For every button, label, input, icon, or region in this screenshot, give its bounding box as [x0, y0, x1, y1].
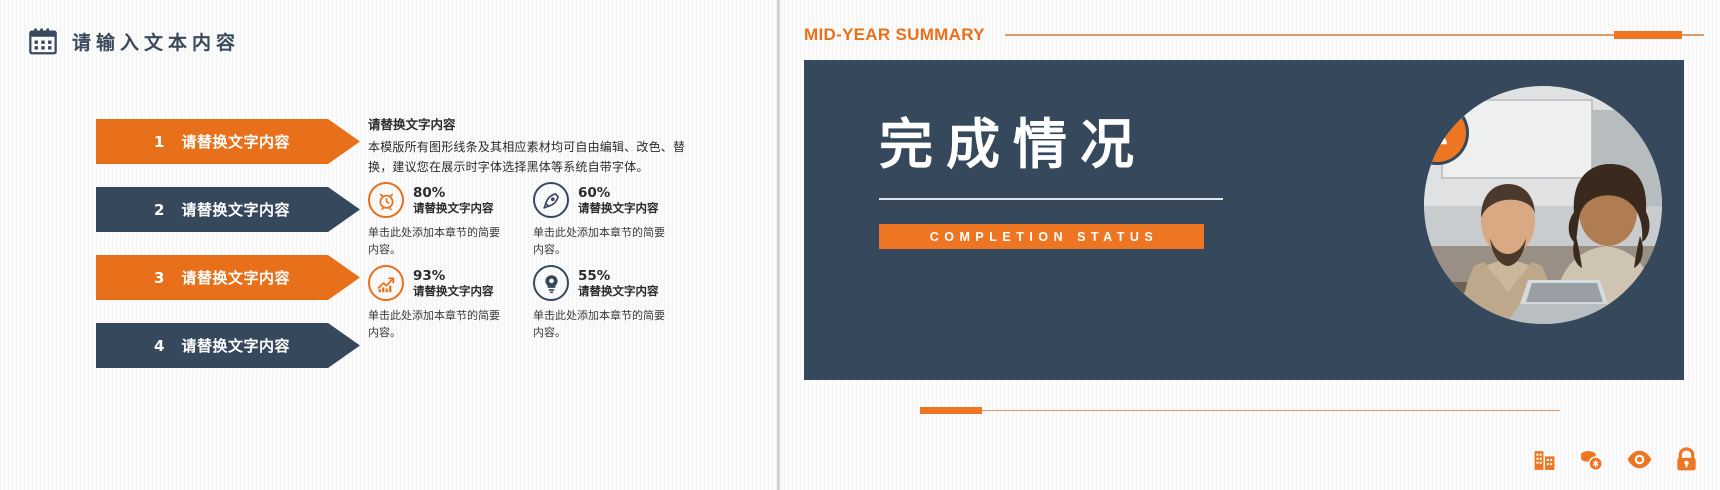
left-panel: 请输入文本内容 1 请替换文字内容 2 请替换文字内容 3 请替换文字内容 — [0, 0, 777, 490]
arrow-banner-4[interactable]: 4 请替换文字内容 — [96, 323, 360, 368]
arrow-banner-2[interactable]: 2 请替换文字内容 — [96, 187, 360, 232]
stat-description: 单击此处添加本章节的简要内容。 — [368, 308, 508, 341]
arrow-shape: 1 请替换文字内容 — [96, 119, 360, 164]
hero-subtitle-badge: COMPLETION STATUS — [879, 224, 1204, 249]
page-title: 请输入文本内容 — [72, 28, 240, 55]
stat-percent: 60% — [578, 185, 659, 201]
header-rule-left — [1005, 34, 1614, 36]
arrow-label: 请替换文字内容 — [181, 267, 290, 288]
lightbulb-icon — [541, 273, 562, 294]
intro-title: 请替换文字内容 — [368, 114, 688, 133]
eye-icon[interactable] — [1626, 447, 1653, 472]
arrow-banner-1[interactable]: 1 请替换文字内容 — [96, 119, 360, 164]
right-panel: MID-YEAR SUMMARY 完成情况 COMPLETION STATUS — [780, 0, 1720, 490]
header-accent-bar — [1614, 31, 1682, 39]
arrow-label: 请替换文字内容 — [181, 131, 290, 152]
stat-percent: 80% — [413, 185, 494, 201]
stat-label: 请替换文字内容 — [413, 201, 494, 215]
arrow-shape: 2 请替换文字内容 — [96, 187, 360, 232]
stat-label: 请替换文字内容 — [413, 284, 494, 298]
arrow-banner-3[interactable]: 3 请替换文字内容 — [96, 255, 360, 300]
stat-head: 60% 请替换文字内容 — [533, 182, 693, 218]
hero-card: 完成情况 COMPLETION STATUS — [804, 60, 1684, 380]
hero-divider — [879, 198, 1223, 200]
stat-percent: 93% — [413, 268, 494, 284]
stat-texts: 55% 请替换文字内容 — [578, 268, 659, 298]
stat-item-3[interactable]: 93% 请替换文字内容 单击此处添加本章节的简要内容。 — [368, 265, 528, 341]
stat-icon-ring — [533, 182, 569, 218]
left-panel-header: 请输入文本内容 — [28, 26, 240, 56]
stat-item-2[interactable]: 60% 请替换文字内容 单击此处添加本章节的简要内容。 — [533, 182, 693, 258]
arrow-shape: 4 请替换文字内容 — [96, 323, 360, 368]
stat-head: 55% 请替换文字内容 — [533, 265, 693, 301]
arrow-number: 3 — [154, 269, 164, 287]
stat-texts: 80% 请替换文字内容 — [413, 185, 494, 215]
hero-title-block: 完成情况 COMPLETION STATUS — [879, 118, 1224, 249]
arrow-label: 请替换文字内容 — [181, 199, 290, 220]
stat-item-1[interactable]: 80% 请替换文字内容 单击此处添加本章节的简要内容。 — [368, 182, 528, 258]
footer-rule — [920, 407, 1560, 414]
stat-icon-ring — [533, 265, 569, 301]
hero-subtitle: COMPLETION STATUS — [925, 230, 1158, 244]
header-rule-right — [1682, 34, 1704, 36]
section-title: MID-YEAR SUMMARY — [804, 25, 985, 45]
stat-head: 93% 请替换文字内容 — [368, 265, 528, 301]
growth-chart-icon — [376, 273, 397, 294]
stat-description: 单击此处添加本章节的简要内容。 — [533, 308, 673, 341]
office-building-icon[interactable] — [1532, 447, 1557, 472]
rocket-pen-icon — [541, 190, 562, 211]
right-panel-header: MID-YEAR SUMMARY — [804, 25, 1704, 45]
stat-icon-ring — [368, 182, 404, 218]
slide-canvas: 请输入文本内容 1 请替换文字内容 2 请替换文字内容 3 请替换文字内容 — [0, 0, 1720, 490]
hero-title: 完成情况 — [879, 118, 1224, 172]
coins-stack-icon[interactable] — [1579, 447, 1604, 472]
stat-icon-ring — [368, 265, 404, 301]
stat-texts: 60% 请替换文字内容 — [578, 185, 659, 215]
stat-description: 单击此处添加本章节的简要内容。 — [533, 225, 673, 258]
arrow-banner-list: 1 请替换文字内容 2 请替换文字内容 3 请替换文字内容 4 — [96, 119, 360, 391]
calendar-icon — [28, 26, 58, 56]
intro-block: 请替换文字内容 本模版所有图形线条及其相应素材均可自由编辑、改色、替换，建议您在… — [368, 114, 688, 178]
arrow-number: 1 — [154, 133, 164, 151]
stats-grid: 80% 请替换文字内容 单击此处添加本章节的简要内容。 — [368, 182, 693, 341]
arrow-label: 请替换文字内容 — [181, 335, 290, 356]
stat-description: 单击此处添加本章节的简要内容。 — [368, 225, 508, 258]
arrow-number: 2 — [154, 201, 164, 219]
stat-label: 请替换文字内容 — [578, 201, 659, 215]
person-avatar-icon — [1424, 118, 1452, 148]
arrow-shape: 3 请替换文字内容 — [96, 255, 360, 300]
stat-texts: 93% 请替换文字内容 — [413, 268, 494, 298]
hero-photo — [1424, 86, 1662, 324]
alarm-clock-icon — [376, 190, 397, 211]
stat-head: 80% 请替换文字内容 — [368, 182, 528, 218]
arrow-number: 4 — [154, 337, 164, 355]
intro-body: 本模版所有图形线条及其相应素材均可自由编辑、改色、替换，建议您在展示时字体选择黑… — [368, 138, 688, 178]
stat-percent: 55% — [578, 268, 659, 284]
footer-accent-bar — [920, 407, 982, 414]
footer-thin-line — [982, 410, 1560, 412]
stat-label: 请替换文字内容 — [578, 284, 659, 298]
lock-icon[interactable] — [1675, 447, 1698, 472]
footer-icon-row — [1532, 447, 1698, 472]
stat-item-4[interactable]: 55% 请替换文字内容 单击此处添加本章节的简要内容。 — [533, 265, 693, 341]
